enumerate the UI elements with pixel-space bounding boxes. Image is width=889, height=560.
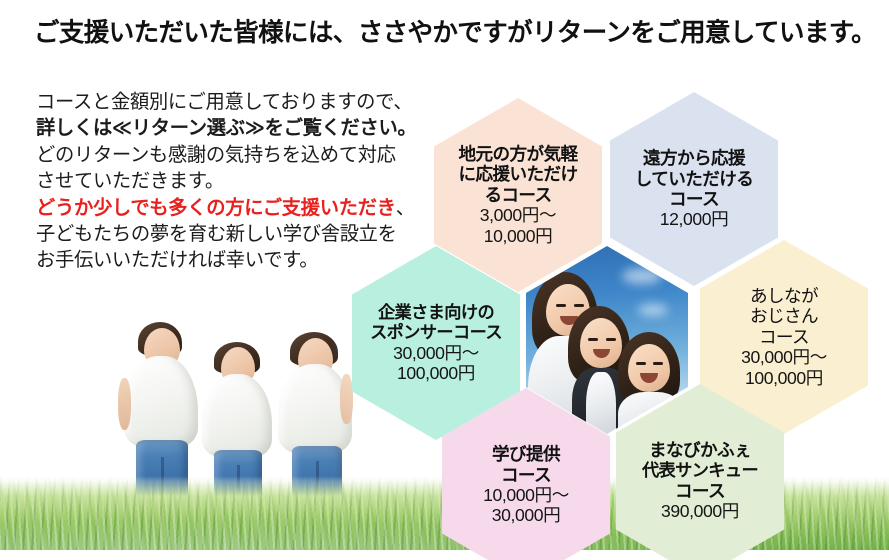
- body-copy-line-4: させていただきます。: [36, 169, 436, 195]
- child-shirt: [124, 356, 198, 448]
- course-title-line: に応援いただけ: [459, 164, 578, 184]
- photo-child-eye: [653, 362, 663, 365]
- course-title-line: 遠方から応援: [643, 148, 745, 168]
- photo-child-eye: [574, 304, 584, 307]
- course-price-line: 12,000円: [660, 209, 729, 229]
- course-price-line: 3,000円〜: [480, 205, 556, 225]
- course-title-line: していただける: [635, 169, 753, 189]
- body-copy-line-5-tail: 、: [396, 198, 415, 219]
- cloud-shape: [622, 268, 662, 284]
- child-arm: [118, 378, 131, 430]
- course-title-line: あしなが: [750, 286, 818, 306]
- grass-bottom-margin: [0, 550, 889, 560]
- photo-child-eye: [588, 338, 598, 341]
- body-copy-line-2: 詳しくは≪リターン選ぶ≫をご覧ください。: [36, 116, 436, 142]
- course-price-line: 30,000円〜: [393, 343, 479, 363]
- page-headline: ご支援いただいた皆様には、ささやかですがリターンをご用意しています。: [34, 12, 864, 49]
- body-copy-line-7: お手伝いいただければ幸いです。: [36, 248, 436, 274]
- course-price-line: 390,000円: [661, 501, 739, 521]
- course-title-line: コース: [759, 327, 809, 347]
- body-copy-line-5-red-text: どうか少しでも多くの方にご支援いただき: [36, 198, 396, 219]
- cloud-shape: [638, 304, 668, 316]
- course-price-line: 100,000円: [397, 363, 475, 383]
- course-title-line: 代表サンキュー: [642, 461, 758, 481]
- photo-child-body: [586, 372, 616, 434]
- course-title-line: るコース: [484, 185, 551, 205]
- course-title-line: 学び提供: [492, 444, 560, 464]
- course-title-line: おじさん: [750, 306, 818, 326]
- course-price-line: 30,000円: [492, 505, 561, 525]
- course-title-line: 企業さま向けの: [378, 303, 494, 323]
- return-rewards-slide: ご支援いただいた皆様には、ささやかですがリターンをご用意しています。 コースと金…: [0, 0, 889, 560]
- course-price-line: 10,000円: [484, 226, 553, 246]
- body-copy-line-3: どのリターンも感謝の気持ちを込めて対応: [36, 143, 436, 169]
- photo-child-face: [580, 318, 622, 368]
- body-copy-line-1: コースと金額別にご用意しておりますので、: [36, 90, 436, 116]
- course-title-line: コース: [501, 465, 551, 485]
- course-price-line: 100,000円: [745, 368, 823, 388]
- course-title-line: スポンサーコース: [370, 323, 502, 343]
- photo-child-eye: [636, 362, 646, 365]
- body-copy: コースと金額別にご用意しておりますので、 詳しくは≪リターン選ぶ≫をご覧ください…: [36, 90, 436, 275]
- course-title-line: コース: [669, 189, 719, 209]
- photo-child-face: [628, 344, 670, 392]
- body-copy-line-5-highlight: どうか少しでも多くの方にご支援いただき、: [36, 196, 436, 222]
- course-title-line: コース: [675, 481, 725, 501]
- hexagon-course-remote-supporter[interactable]: 遠方から応援 していただける コース 12,000円: [610, 92, 778, 286]
- course-title-line: まなびかふぇ: [649, 440, 751, 460]
- child-shirt: [202, 374, 272, 458]
- course-price-line: 10,000円〜: [483, 485, 569, 505]
- body-copy-line-6: 子どもたちの夢を育む新しい学び舎設立を: [36, 222, 436, 248]
- course-price-line: 30,000円〜: [741, 347, 827, 367]
- photo-child-eye: [556, 304, 566, 307]
- course-title-line: 地元の方が気軽: [459, 144, 578, 164]
- photo-child-eye: [606, 338, 616, 341]
